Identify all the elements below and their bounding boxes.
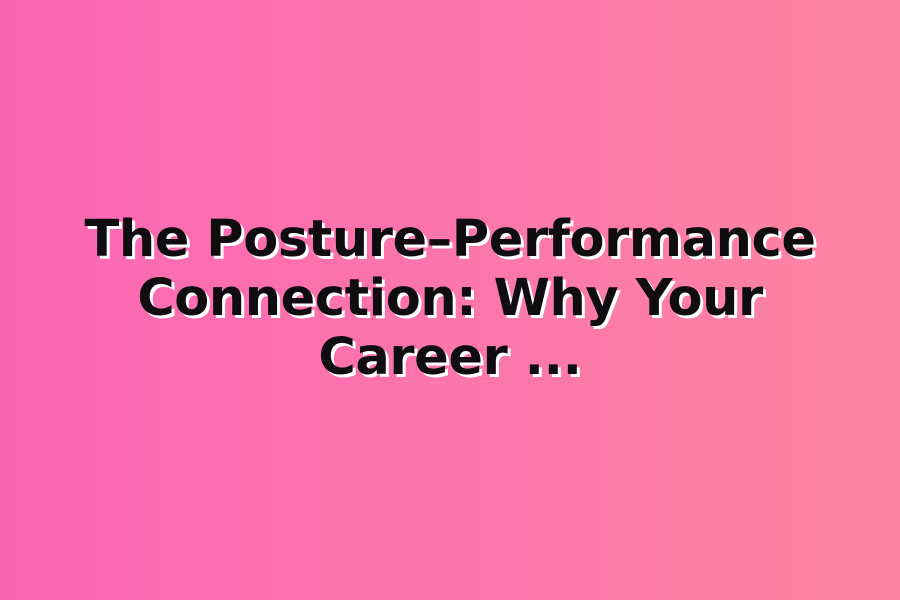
social-share-card: The Posture–Performance Connection: Why … bbox=[0, 0, 900, 600]
page-title: The Posture–Performance Connection: Why … bbox=[40, 210, 860, 387]
title-block: The Posture–Performance Connection: Why … bbox=[40, 210, 860, 387]
